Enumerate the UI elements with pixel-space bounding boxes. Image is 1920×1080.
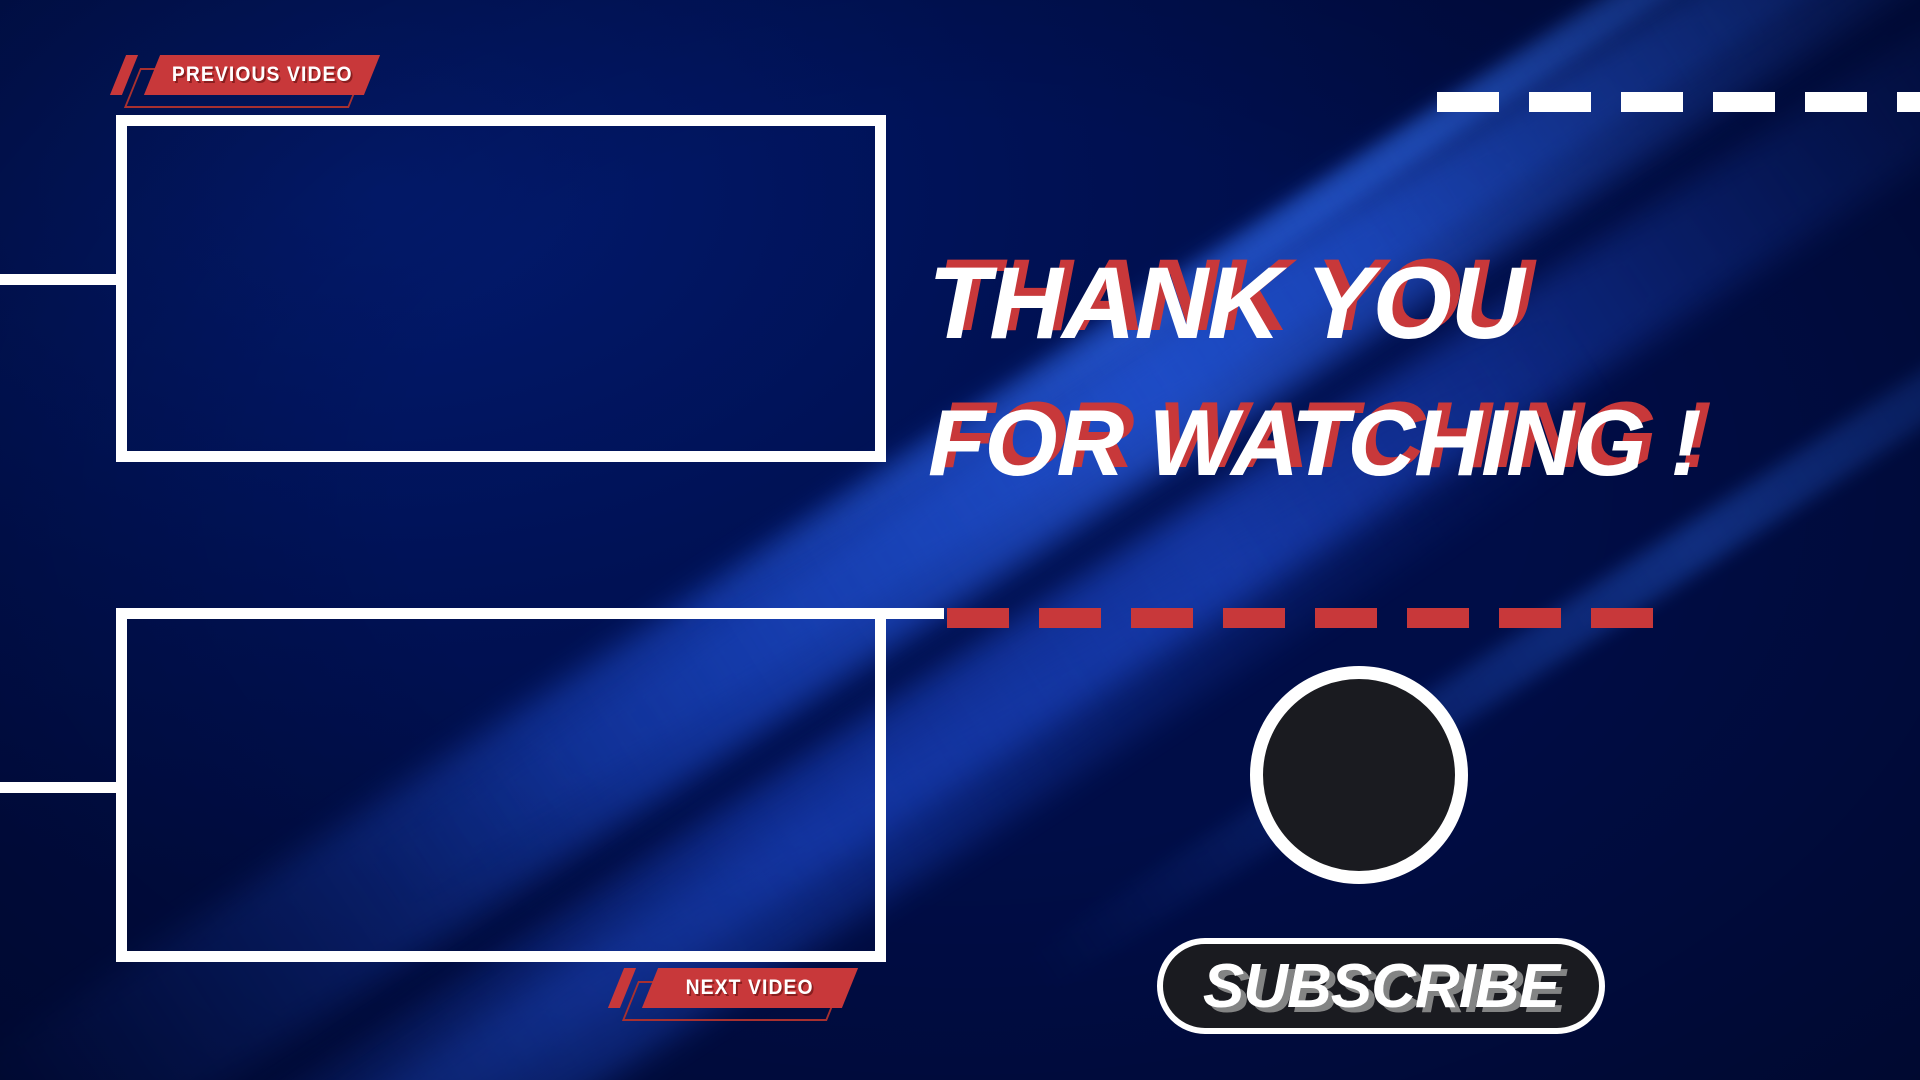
- headline-line-2: FOR WATCHING ! FOR WATCHING !: [928, 396, 1701, 490]
- headline-line-1-text: THANK YOU: [928, 246, 1523, 360]
- channel-avatar[interactable]: [1250, 666, 1468, 884]
- red-dashed-rule: [947, 608, 1683, 628]
- headline-line-1: THANK YOU THANK YOU: [928, 252, 1701, 354]
- dash-segment: [1437, 92, 1499, 112]
- next-video-ribbon-label: NEXT VIDEO: [686, 976, 814, 1000]
- previous-video-connector-line: [0, 274, 116, 285]
- headline-line-2-text: FOR WATCHING !: [928, 390, 1701, 495]
- dash-segment: [947, 608, 1009, 628]
- dash-segment: [1897, 92, 1920, 112]
- subscribe-button[interactable]: SUBSCRIBE: [1157, 938, 1605, 1034]
- dash-segment: [1621, 92, 1683, 112]
- dash-segment: [1529, 92, 1591, 112]
- dash-segment: [1805, 92, 1867, 112]
- dash-segment: [1223, 608, 1285, 628]
- dash-segment: [1591, 608, 1653, 628]
- end-screen-canvas: PREVIOUS VIDEO NEXT VIDEO THANK YOU THAN…: [0, 0, 1920, 1080]
- dash-segment: [1131, 608, 1193, 628]
- previous-video-ribbon-label: PREVIOUS VIDEO: [172, 63, 353, 87]
- white-dashed-rule: [1437, 92, 1920, 112]
- next-video-ribbon[interactable]: NEXT VIDEO: [642, 968, 858, 1008]
- dash-segment: [1713, 92, 1775, 112]
- subscribe-button-label: SUBSCRIBE: [1203, 951, 1559, 1022]
- dash-segment: [1315, 608, 1377, 628]
- headline-block: THANK YOU THANK YOU FOR WATCHING ! FOR W…: [928, 252, 1701, 490]
- dash-segment: [1039, 608, 1101, 628]
- dash-segment: [1499, 608, 1561, 628]
- previous-video-placeholder[interactable]: [116, 115, 886, 462]
- next-video-connector-line: [0, 782, 116, 793]
- previous-video-ribbon[interactable]: PREVIOUS VIDEO: [144, 55, 380, 95]
- next-video-connector-stub: [886, 608, 944, 619]
- next-video-placeholder[interactable]: [116, 608, 886, 962]
- dash-segment: [1407, 608, 1469, 628]
